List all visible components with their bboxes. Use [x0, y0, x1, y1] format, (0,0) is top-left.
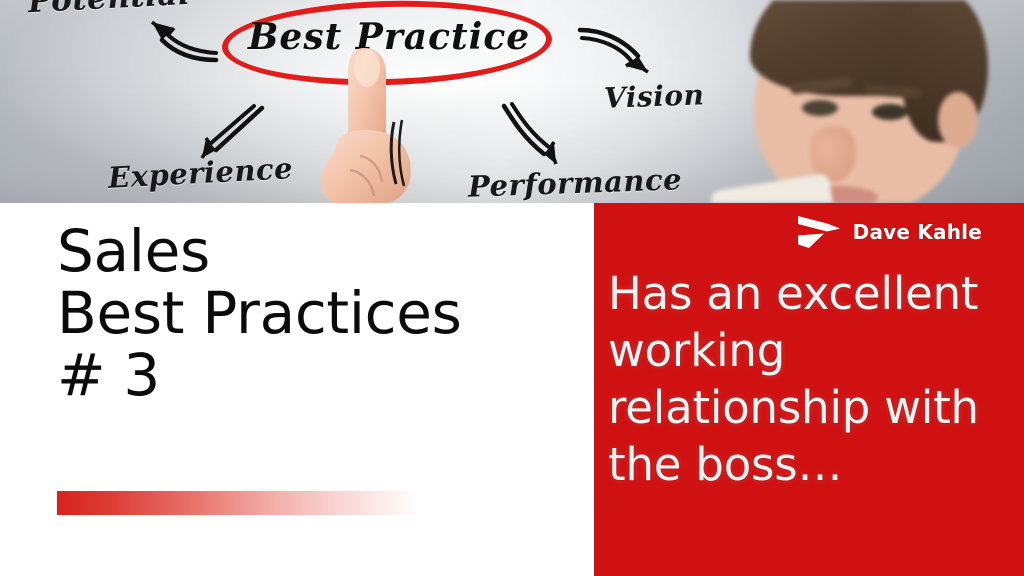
- presenter-photo: [706, 0, 1024, 203]
- page-title: Sales Best Practices # 3: [57, 220, 577, 406]
- header-banner-image: Potential Best Practice Experience Visio…: [0, 0, 1024, 203]
- brand-name-label: Dave Kahle: [853, 220, 982, 244]
- pointing-hand-icon: [316, 44, 436, 203]
- eye-right-shape: [872, 104, 908, 120]
- title-pane: Sales Best Practices # 3: [0, 203, 594, 576]
- accent-gradient-bar: [57, 491, 420, 515]
- arrow-up-left-icon: [138, 16, 218, 66]
- slide-canvas: Potential Best Practice Experience Visio…: [0, 0, 1024, 576]
- double-chevron-right-icon: [797, 215, 841, 249]
- banner-label-vision: Vision: [603, 78, 704, 114]
- arrow-down-right-icon: [500, 104, 568, 166]
- eye-left-shape: [802, 100, 838, 116]
- title-line-1: Sales: [57, 220, 577, 282]
- title-line-3: # 3: [57, 344, 577, 406]
- title-line-2: Best Practices: [57, 282, 577, 344]
- content-panel: Dave Kahle Has an excellent working rela…: [594, 203, 1024, 576]
- brand-lockup: Dave Kahle: [797, 215, 982, 249]
- arrow-down-left-icon: [196, 104, 268, 162]
- banner-label-performance: Performance: [467, 162, 682, 203]
- ear-shape: [938, 92, 978, 148]
- arrow-up-right-icon: [578, 22, 652, 74]
- shirt-collar-shape: [710, 173, 835, 203]
- panel-body-text: Has an excellent working relationship wi…: [608, 265, 1020, 493]
